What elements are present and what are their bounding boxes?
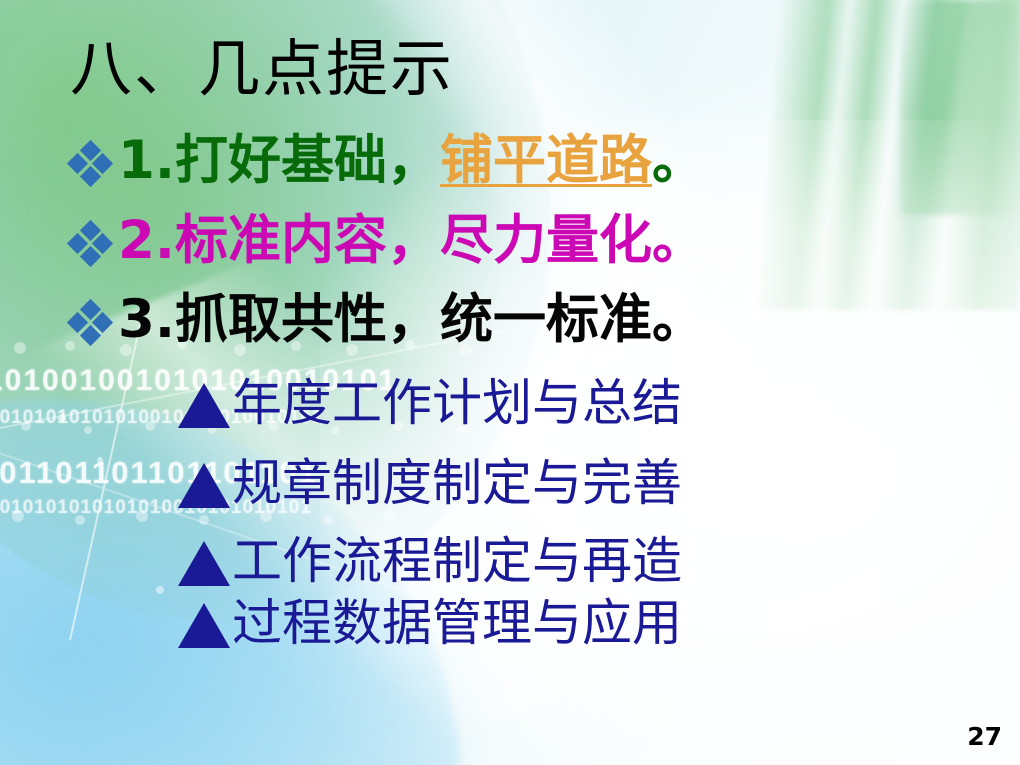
sub-item-label: 规章制度制定与完善 (232, 458, 682, 508)
diamond-cluster-bullet-icon (68, 141, 112, 185)
item-number: 1. (118, 134, 175, 187)
numbered-item-1: 1. 打好基础， 铺平道路 。 (68, 134, 705, 187)
diamond-cluster-bullet-icon (68, 300, 112, 344)
sub-item-2: 规章制度制定与完善 (178, 458, 682, 508)
item-text-part-a: 打好基础， (175, 134, 440, 187)
numbered-item-3: 3. 抓取共性，统一标准。 (68, 293, 705, 346)
triangle-bullet-icon (178, 463, 230, 508)
triangle-bullet-icon (178, 541, 230, 586)
slide-title: 八、几点提示 (70, 38, 454, 100)
sub-item-4: 过程数据管理与应用 (178, 598, 682, 648)
item-text-part-c: 。 (652, 134, 705, 187)
item-number: 3. (118, 293, 175, 346)
item-text: 标准内容，尽力量化。 (175, 214, 705, 267)
sub-item-label: 过程数据管理与应用 (232, 598, 682, 648)
presentation-slide: 1010010010101010010101 10101010101010010… (0, 0, 1020, 765)
page-number: 27 (967, 722, 1002, 751)
slide-content: 八、几点提示 1. 打好基础， 铺平道路 。 2. 标准内容，尽力量化。 3. (0, 0, 1020, 765)
triangle-bullet-icon (178, 603, 230, 648)
sub-item-3: 工作流程制定与再造 (178, 536, 682, 586)
sub-item-label: 工作流程制定与再造 (232, 536, 682, 586)
numbered-item-2: 2. 标准内容，尽力量化。 (68, 214, 705, 267)
sub-item-1: 年度工作计划与总结 (178, 378, 682, 428)
triangle-bullet-icon (178, 383, 230, 428)
item-number: 2. (118, 214, 175, 267)
item-text-highlight: 铺平道路 (440, 134, 652, 187)
sub-item-label: 年度工作计划与总结 (232, 378, 682, 428)
diamond-cluster-bullet-icon (68, 221, 112, 265)
item-text: 抓取共性，统一标准。 (175, 293, 705, 346)
